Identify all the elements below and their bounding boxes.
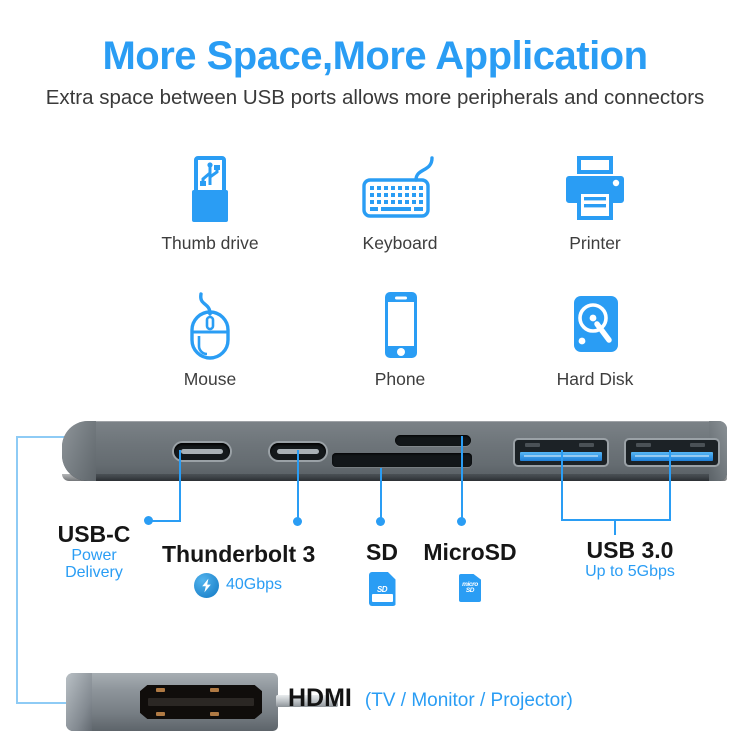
callout-line-microsd — [461, 436, 463, 522]
page-title: More Space,More Application — [0, 34, 750, 79]
label-thunderbolt-speed: 40Gbps — [226, 577, 282, 594]
hard-disk-icon — [520, 288, 670, 362]
label-hdmi-title: HDMI — [288, 684, 352, 713]
label-microsd-title: MicroSD — [415, 539, 525, 566]
sd-card-icon: SD — [369, 572, 396, 606]
label-usb-3-0-title: USB 3.0 — [570, 537, 690, 564]
peripheral-keyboard: Keyboard — [325, 152, 475, 254]
thunderbolt-bolt-icon — [194, 573, 219, 598]
microsd-card-icon: micro SD — [459, 574, 481, 602]
label-hdmi-sub: (TV / Monitor / Projector) — [365, 690, 573, 712]
callout-line-usb3-stem — [614, 519, 616, 535]
infographic-page: More Space,More Application Extra space … — [0, 0, 750, 750]
peripheral-phone: Phone — [325, 288, 475, 390]
callout-line-sd — [380, 468, 382, 522]
peripheral-label: Phone — [325, 369, 475, 390]
label-usb-c-title: USB-C — [48, 521, 140, 548]
label-sd: SD SD — [355, 539, 409, 606]
printer-icon — [520, 152, 670, 226]
peripheral-label: Mouse — [135, 369, 285, 390]
port-microsd-slot — [395, 435, 471, 446]
label-microsd: MicroSD micro SD — [415, 539, 525, 602]
peripheral-label: Printer — [520, 233, 670, 254]
hdmi-connector-device — [66, 673, 278, 731]
usb-thumb-drive-icon — [135, 152, 285, 226]
callout-dot-microsd — [457, 517, 466, 526]
peripheral-printer: Printer — [520, 152, 670, 254]
callout-dot-usbc — [144, 516, 153, 525]
peripheral-label: Keyboard — [325, 233, 475, 254]
label-thunderbolt: Thunderbolt 3 40Gbps — [162, 541, 315, 598]
label-usb-3-0-speed: Up to 5Gbps — [570, 564, 690, 581]
callout-line-usbc — [179, 450, 181, 522]
keyboard-icon — [325, 152, 475, 226]
hub-left-cap — [62, 421, 96, 481]
mouse-icon — [135, 288, 285, 362]
label-usb-c-sub-1: Power — [48, 548, 140, 565]
port-usb-c-power-delivery — [174, 443, 230, 460]
usb-c-hub-device — [62, 421, 727, 481]
microsd-card-icon-text-2: SD — [459, 588, 481, 595]
port-usb-3-0-right — [626, 440, 718, 465]
label-sd-title: SD — [355, 539, 409, 566]
sd-card-icon-text: SD — [369, 585, 396, 594]
peripheral-thumb-drive: Thumb drive — [135, 152, 285, 254]
label-usb-c: USB-C Power Delivery — [48, 521, 140, 582]
label-usb-3-0: USB 3.0 Up to 5Gbps — [570, 537, 690, 581]
peripheral-hard-disk: Hard Disk — [520, 288, 670, 390]
callout-dot-sd — [376, 517, 385, 526]
callout-line-usb3-join — [561, 519, 671, 521]
label-thunderbolt-title: Thunderbolt 3 — [162, 541, 315, 568]
label-usb-c-sub-2: Delivery — [48, 565, 140, 582]
callout-line-usb3-left — [561, 450, 563, 520]
page-subtitle: Extra space between USB ports allows mor… — [0, 86, 750, 110]
peripheral-mouse: Mouse — [135, 288, 285, 390]
port-hdmi — [140, 685, 262, 719]
callout-line-thunderbolt — [297, 450, 299, 522]
peripheral-label: Hard Disk — [520, 369, 670, 390]
callout-line-usb3-right — [669, 450, 671, 520]
phone-icon — [325, 288, 475, 362]
label-hdmi: HDMI (TV / Monitor / Projector) — [288, 684, 573, 713]
peripheral-label: Thumb drive — [135, 233, 285, 254]
port-sd-slot — [332, 453, 472, 467]
callout-dot-thunderbolt — [293, 517, 302, 526]
